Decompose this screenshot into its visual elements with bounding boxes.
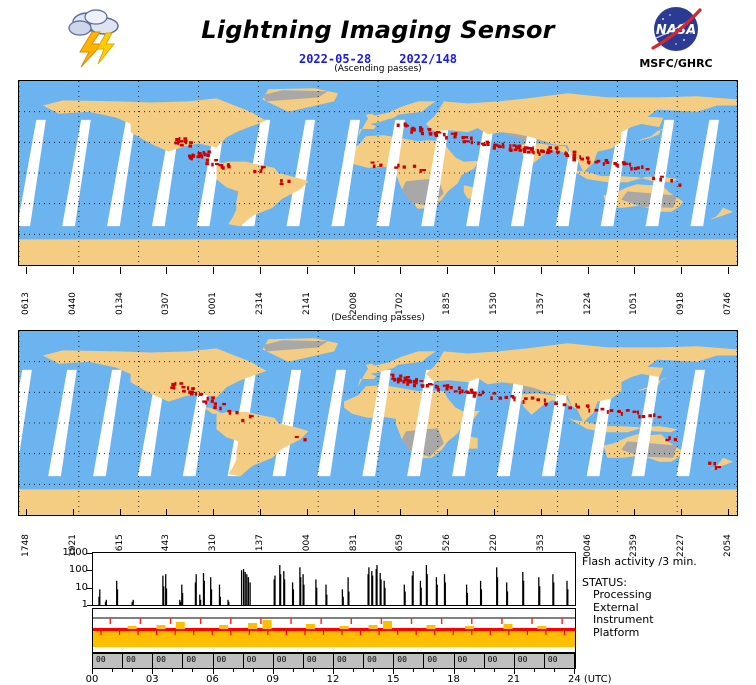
status-instrument-peak	[248, 623, 257, 629]
lightning-flash-marker	[478, 394, 482, 396]
status-processing-tick	[170, 618, 171, 624]
x-minor-tick	[253, 669, 254, 672]
status-external-spike	[175, 631, 176, 635]
ascending-bottom-orbit-time-label: 0134	[115, 275, 125, 315]
lightning-flash-marker	[303, 438, 306, 441]
ascending-bottom-orbit-time-tick	[400, 267, 401, 274]
legend-flash-activity: Flash activity /3 min.	[582, 556, 756, 569]
status-instrument-band	[93, 629, 575, 647]
status-processing-tick	[471, 618, 472, 624]
status-external-spike	[564, 631, 565, 635]
lightning-flash-marker	[211, 400, 214, 403]
descending-caption: (Descending passes)	[0, 313, 756, 323]
lightning-flash-marker	[454, 390, 458, 392]
lightning-flash-marker	[183, 137, 187, 140]
lightning-flash-marker	[219, 407, 221, 411]
descending-bottom-orbit-time-tick	[166, 509, 167, 516]
x-minor-tick	[494, 669, 495, 672]
lightning-flash-marker	[615, 163, 617, 167]
lightning-flash-marker	[544, 399, 546, 403]
lightning-flash-marker	[610, 409, 614, 412]
ascending-bottom-orbit-time-tick	[166, 267, 167, 274]
lightning-flash-marker	[413, 384, 416, 388]
lightning-flash-marker	[617, 410, 621, 413]
lightning-flash-marker	[445, 387, 448, 390]
lightning-flash-marker	[205, 162, 209, 165]
lightning-flash-marker	[638, 415, 640, 419]
lightning-flash-marker	[404, 123, 407, 127]
lightning-flash-marker	[502, 145, 504, 149]
status-external-spike	[490, 631, 491, 635]
lightning-flash-marker	[517, 147, 521, 150]
status-external-spike	[323, 631, 324, 635]
lightning-flash-marker	[185, 140, 187, 144]
platform-status-cell-label: 00	[156, 655, 166, 664]
status-processing-tick	[531, 618, 532, 624]
lightning-flash-marker	[175, 138, 179, 141]
status-instrument-peak	[176, 622, 185, 629]
ascending-bottom-orbit-time-tick	[447, 267, 448, 274]
lightning-flash-marker	[450, 386, 453, 389]
x-minor-tick	[233, 669, 234, 672]
x-minor-tick	[353, 669, 354, 672]
status-external-spike	[119, 631, 120, 635]
lightning-flash-marker	[605, 159, 609, 162]
lightning-flash-marker	[402, 380, 405, 383]
lightning-flash-marker	[717, 466, 721, 468]
platform-status-cell-label: 00	[96, 655, 106, 664]
status-instrument-peak	[383, 621, 392, 629]
ascending-bottom-orbit-time-tick	[588, 267, 589, 274]
status-instrument-peak	[537, 626, 546, 629]
status-external-spike	[341, 631, 342, 635]
lightning-flash-marker	[576, 406, 580, 409]
map-graphic	[19, 331, 737, 515]
plot-legend: Flash activity /3 min. STATUS: Processin…	[582, 556, 756, 639]
status-processing-tick	[561, 618, 562, 624]
ascending-bottom-orbit-time-tick	[354, 267, 355, 274]
lightning-flash-marker	[568, 406, 572, 409]
lightning-flash-marker	[641, 165, 643, 169]
lightning-flash-marker	[420, 169, 422, 173]
status-external-spike	[304, 631, 305, 635]
platform-status-cell: 00	[183, 654, 213, 668]
platform-status-cell-label: 00	[397, 655, 407, 664]
lightning-flash-marker	[213, 406, 217, 409]
lightning-flash-marker	[253, 170, 256, 173]
status-external-spike	[156, 631, 157, 635]
lightning-flash-marker	[466, 392, 470, 394]
lightning-flash-marker	[541, 150, 545, 153]
lightning-flash-marker	[187, 386, 189, 390]
lightning-flash-marker	[421, 384, 425, 386]
status-external-spike	[360, 631, 361, 635]
ascending-bottom-orbit-time-label: 0746	[723, 275, 733, 315]
x-minor-tick	[534, 669, 535, 672]
lightning-flash-marker	[428, 128, 431, 131]
platform-status-cell-label: 00	[186, 655, 196, 664]
lightning-flash-marker	[461, 389, 463, 393]
lightning-flash-marker	[527, 151, 531, 154]
lightning-flash-marker	[526, 147, 530, 150]
status-external-spike	[212, 631, 213, 635]
lightning-flash-marker	[573, 153, 577, 156]
status-processing-tick	[140, 618, 141, 624]
flash-activity-plot: 1101001000 00000000000000000000000000000…	[0, 548, 756, 680]
lightning-flash-marker	[399, 375, 402, 378]
lightning-flash-marker	[545, 403, 547, 407]
lightning-flash-marker	[652, 177, 655, 181]
lightning-flash-marker	[653, 413, 655, 417]
lightning-flash-marker	[659, 178, 662, 182]
lightning-flash-marker	[674, 438, 677, 441]
lightning-flash-marker	[445, 136, 448, 140]
lightning-flash-marker	[549, 150, 553, 153]
platform-status-cell: 00	[455, 654, 485, 668]
ascending-bottom-tick-labels: 0613044001340307000123142141200817021835…	[18, 267, 738, 309]
descending-bottom-orbit-time-tick	[73, 509, 74, 516]
lightning-flash-marker	[492, 392, 496, 394]
lightning-flash-marker	[486, 141, 490, 144]
lightning-flash-marker	[443, 133, 446, 137]
flash-activity-y-tick-label: 1	[46, 599, 88, 610]
lightning-flash-marker	[466, 140, 470, 142]
platform-status-cell: 00	[123, 654, 153, 668]
lightning-flash-marker	[211, 396, 215, 399]
status-external-spike	[137, 631, 138, 635]
lightning-flash-marker	[437, 386, 439, 390]
ascending-bottom-orbit-time-tick	[26, 267, 27, 274]
status-external-spike	[378, 631, 379, 635]
status-external-spike	[230, 631, 231, 635]
lightning-flash-marker	[636, 166, 640, 169]
lightning-flash-marker	[473, 394, 476, 397]
lightning-flash-marker	[190, 157, 193, 161]
lightning-flash-marker	[499, 397, 503, 400]
lightning-flash-marker	[171, 383, 175, 386]
lightning-flash-marker	[555, 401, 557, 405]
lightning-flash-marker	[548, 146, 552, 149]
descending-bottom-orbit-time-tick	[728, 509, 729, 516]
status-series	[93, 609, 575, 652]
flash-activity-y-tick-label: 10	[46, 582, 88, 593]
lightning-flash-marker	[531, 397, 535, 400]
lightning-flash-marker	[633, 411, 637, 413]
lightning-flash-marker	[494, 144, 498, 147]
status-processing-tick	[290, 618, 291, 624]
lightning-flash-marker	[403, 165, 406, 168]
platform-status-cell: 00	[153, 654, 183, 668]
lightning-flash-marker	[280, 179, 283, 183]
status-external-spike	[453, 631, 454, 635]
lightning-flash-marker	[587, 405, 589, 409]
status-processing-tick	[230, 618, 231, 624]
lightning-flash-marker	[206, 159, 209, 162]
ascending-bottom-orbit-time-tick	[120, 267, 121, 274]
lightning-flash-marker	[409, 380, 412, 383]
lightning-flash-marker	[708, 462, 711, 465]
ascending-bottom-orbit-time-label: 0613	[21, 275, 31, 315]
status-external-spike	[100, 631, 101, 635]
lightning-flash-marker	[648, 414, 652, 417]
lightning-flash-marker	[180, 144, 184, 147]
ascending-bottom-orbit-time-label: 0307	[161, 275, 171, 315]
lightning-flash-marker	[646, 168, 650, 170]
lightning-flash-marker	[198, 152, 202, 154]
lightning-flash-marker	[715, 466, 717, 470]
flash-activity-y-tick-label: 100	[46, 564, 88, 575]
lightning-flash-marker	[371, 162, 375, 164]
status-processing-tick	[411, 618, 412, 624]
flash-activity-y-tick-label: 1000	[46, 547, 88, 558]
status-instrument-peak	[426, 625, 435, 629]
lightning-flash-marker	[207, 397, 209, 401]
lightning-flash-marker	[463, 140, 467, 143]
lightning-flash-marker	[235, 411, 238, 414]
lightning-flash-marker	[658, 416, 662, 418]
lightning-flash-marker	[464, 136, 468, 138]
lightning-flash-marker	[458, 387, 461, 391]
platform-status-cell: 00	[93, 654, 123, 668]
lightning-flash-marker	[660, 176, 664, 178]
legend-status-platform: Platform	[593, 627, 756, 640]
status-processing-tick	[110, 618, 111, 624]
lightning-flash-marker	[262, 166, 266, 168]
page-header: Lightning Imaging Sensor 2022-05-282022/…	[0, 0, 756, 74]
lightning-flash-marker	[536, 398, 540, 401]
lightning-flash-marker	[470, 389, 474, 392]
descending-map-canvas	[18, 330, 738, 516]
lightning-flash-marker	[177, 141, 179, 145]
platform-status-cell: 00	[304, 654, 334, 668]
lightning-flash-marker	[573, 151, 577, 154]
lightning-flash-marker	[250, 415, 254, 417]
ascending-bottom-orbit-time-tick	[541, 267, 542, 274]
x-minor-tick	[413, 669, 414, 672]
lightning-flash-marker	[260, 169, 263, 173]
ascending-map-canvas	[18, 80, 738, 266]
x-minor-tick	[132, 669, 133, 672]
lightning-flash-marker	[473, 392, 477, 395]
lightning-flash-marker	[393, 378, 396, 382]
status-external-spike	[545, 631, 546, 635]
lightning-flash-marker	[482, 391, 484, 395]
lightning-flash-marker	[607, 410, 609, 414]
status-processing-tick	[351, 618, 352, 624]
status-processing-tick	[501, 618, 502, 624]
lightning-flash-marker	[505, 396, 509, 399]
lightning-flash-marker	[565, 154, 569, 157]
flash-activity-y-tick	[87, 570, 92, 571]
lightning-flash-marker	[537, 149, 539, 153]
ascending-bottom-orbit-time-label: 1530	[489, 275, 499, 315]
status-external-spike	[471, 631, 472, 635]
status-external-spike	[416, 631, 417, 635]
status-instrument-peak	[156, 625, 165, 629]
platform-status-cell: 00	[274, 654, 304, 668]
lightning-flash-marker	[413, 128, 416, 131]
lightning-flash-marker	[397, 124, 400, 128]
ascending-bottom-orbit-time-label: 2314	[255, 275, 265, 315]
lightning-flash-marker	[625, 163, 629, 165]
ascending-bottom-orbit-time-tick	[728, 267, 729, 274]
platform-status-cell-label: 00	[488, 655, 498, 664]
lightning-flash-marker	[509, 148, 511, 152]
lightning-flash-marker	[218, 164, 222, 166]
lightning-flash-marker	[713, 462, 716, 466]
platform-status-cell-label: 00	[458, 655, 468, 664]
platform-status-cell-label: 00	[548, 655, 558, 664]
ascending-bottom-orbit-time-tick	[260, 267, 261, 274]
status-instrument-peak	[369, 625, 378, 629]
status-external-spike	[286, 631, 287, 635]
lightning-flash-marker	[214, 402, 217, 405]
status-external-spike	[267, 631, 268, 635]
descending-bottom-orbit-time-tick	[588, 509, 589, 516]
x-minor-tick	[172, 669, 173, 672]
status-instrument-peak	[128, 626, 137, 629]
status-processing-tick	[441, 618, 442, 624]
lightning-flash-marker	[471, 141, 473, 145]
platform-status-cell: 00	[394, 654, 424, 668]
flash-activity-axes	[92, 552, 576, 606]
platform-status-cell: 00	[485, 654, 515, 668]
lightning-flash-marker	[563, 403, 567, 406]
descending-bottom-orbit-time-tick	[120, 509, 121, 516]
lightning-flash-marker	[222, 166, 225, 170]
platform-status-cell-label: 00	[367, 655, 377, 664]
x-minor-tick	[293, 669, 294, 672]
lightning-flash-marker	[453, 135, 456, 138]
lightning-flash-marker	[191, 387, 195, 390]
lightning-flash-marker	[670, 179, 673, 183]
lightning-flash-marker	[533, 151, 535, 155]
ascending-bottom-orbit-time-tick	[494, 267, 495, 274]
status-external-spike	[508, 631, 509, 635]
lightning-flash-marker	[523, 400, 525, 404]
status-external-spike	[527, 631, 528, 635]
lightning-flash-marker	[678, 183, 681, 187]
flash-activity-y-tick	[87, 553, 92, 554]
lightning-flash-marker	[580, 158, 584, 161]
ascending-bottom-orbit-time-label: 1357	[536, 275, 546, 315]
lightning-flash-marker	[173, 386, 175, 390]
x-minor-tick	[474, 669, 475, 672]
lightning-flash-marker	[595, 409, 599, 412]
status-processing-tick	[381, 618, 382, 624]
platform-status-bar: 00000000000000000000000000000000	[92, 653, 576, 669]
ascending-bottom-orbit-time-tick	[213, 267, 214, 274]
lightning-flash-marker	[451, 133, 455, 135]
descending-bottom-tick-labels: 1748192116151443131011371004083106590526…	[18, 509, 738, 551]
map-graphic	[19, 81, 737, 265]
lightning-flash-marker	[406, 376, 410, 378]
ascending-bottom-orbit-time-label: 0001	[208, 275, 218, 315]
ascending-bottom-orbit-time-label: 0918	[676, 275, 686, 315]
x-minor-tick	[112, 669, 113, 672]
platform-status-cell-label: 00	[247, 655, 257, 664]
descending-bottom-orbit-time-tick	[26, 509, 27, 516]
lightning-flash-marker	[180, 140, 184, 142]
lightning-flash-marker	[482, 144, 486, 146]
lightning-flash-marker	[601, 408, 605, 411]
nasa-logo-block: NASA MSFC/GHRC	[628, 4, 724, 72]
lightning-flash-marker	[211, 163, 213, 167]
x-minor-tick	[373, 669, 374, 672]
platform-status-cell-label: 00	[307, 655, 317, 664]
ascending-bottom-orbit-time-label: 1835	[442, 275, 452, 315]
lightning-flash-marker	[421, 132, 424, 136]
lightning-flash-marker	[532, 146, 534, 150]
lightning-flash-marker	[462, 136, 465, 139]
ascending-bottom-orbit-time-label: 1702	[395, 275, 405, 315]
platform-status-cell: 00	[364, 654, 394, 668]
lightning-flash-marker	[493, 146, 496, 149]
lightning-flash-marker	[199, 393, 203, 395]
ascending-bottom-orbit-time-label: 1224	[583, 275, 593, 315]
status-instrument-peak	[306, 624, 315, 629]
platform-status-cell-label: 00	[217, 655, 227, 664]
lightning-flash-marker	[190, 392, 194, 395]
ascending-bottom-orbit-time-tick	[681, 267, 682, 274]
lightning-flash-marker	[626, 409, 630, 412]
lightning-flash-marker	[510, 395, 514, 398]
lightning-flash-marker	[509, 144, 511, 148]
lightning-flash-marker	[459, 391, 461, 395]
lightning-flash-marker	[287, 180, 290, 183]
ascending-bottom-orbit-time-tick	[73, 267, 74, 274]
lightning-flash-marker	[379, 164, 382, 167]
lightning-flash-marker	[373, 165, 376, 169]
descending-bottom-orbit-time-tick	[307, 509, 308, 516]
descending-map-panel	[18, 330, 738, 516]
lightning-flash-marker	[555, 147, 559, 150]
lightning-flash-marker	[189, 141, 193, 144]
ascending-bottom-orbit-time-label: 2141	[302, 275, 312, 315]
lightning-flash-marker	[557, 151, 559, 155]
platform-status-cell-label: 00	[277, 655, 287, 664]
ascending-bottom-orbit-time-tick	[307, 267, 308, 274]
descending-bottom-orbit-time-tick	[494, 509, 495, 516]
status-instrument-peak	[263, 620, 272, 629]
lightning-flash-marker	[597, 160, 601, 163]
lightning-flash-marker	[419, 380, 423, 382]
status-axes	[92, 608, 576, 653]
platform-status-cell: 00	[545, 654, 575, 668]
status-processing-tick	[260, 618, 261, 624]
platform-status-cell: 00	[334, 654, 364, 668]
status-external-spike	[249, 631, 250, 635]
platform-status-cell: 00	[515, 654, 545, 668]
descending-bottom-orbit-time-tick	[400, 509, 401, 516]
platform-status-cell-label: 00	[126, 655, 136, 664]
lightning-flash-marker	[629, 163, 631, 167]
lightning-flash-marker	[182, 386, 186, 388]
lightning-flash-marker	[490, 396, 492, 400]
lightning-flash-marker	[523, 150, 527, 153]
lightning-flash-marker	[510, 148, 512, 152]
flash-activity-y-tick	[87, 605, 92, 606]
lightning-flash-marker	[428, 383, 432, 385]
lightning-flash-marker	[621, 412, 623, 416]
lightning-flash-marker	[429, 132, 433, 134]
lightning-flash-marker	[229, 411, 231, 415]
x-minor-tick	[313, 669, 314, 672]
status-instrument-peak	[465, 626, 474, 629]
ascending-caption: (Ascending passes)	[0, 64, 756, 74]
lightning-flash-marker	[227, 163, 230, 167]
lightning-flash-marker	[572, 156, 576, 159]
